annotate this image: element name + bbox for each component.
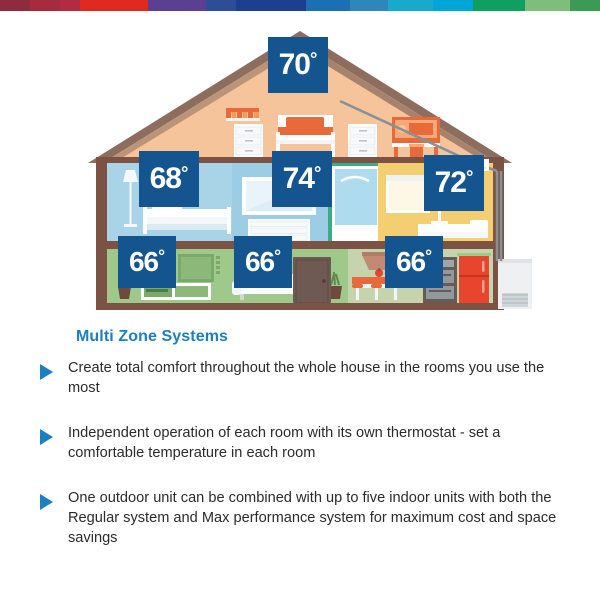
triangle-right-icon — [40, 429, 53, 445]
degree-symbol: ° — [314, 164, 321, 183]
bullet-item-1: Create total comfort throughout the whol… — [40, 358, 570, 398]
bullet-item-3: One outdoor unit can be combined with up… — [40, 488, 570, 548]
temperature-value: 66 — [396, 248, 425, 276]
attic-dresser-right-icon — [348, 124, 377, 157]
degree-symbol: ° — [181, 164, 188, 183]
color-swatch-3 — [80, 0, 148, 11]
color-swatch-0 — [0, 0, 30, 11]
triangle-right-icon — [40, 364, 53, 380]
degree-symbol: ° — [425, 248, 432, 265]
bathroom-shower-icon — [332, 166, 380, 241]
temperature-value: 70 — [279, 50, 310, 80]
bullet-text: Independent operation of each room with … — [68, 423, 570, 463]
color-swatch-9 — [388, 0, 433, 11]
color-swatch-6 — [236, 0, 306, 11]
temperature-badge-living-left: 66° — [118, 236, 176, 288]
door-brown-icon — [293, 257, 331, 303]
top-color-strip — [0, 0, 600, 11]
temperature-badge-kitchen: 66° — [385, 236, 443, 288]
degree-symbol: ° — [274, 248, 281, 265]
house-base — [96, 303, 504, 310]
degree-symbol: ° — [310, 50, 317, 69]
page-title: Multi Zone Systems — [76, 328, 228, 346]
triangle-right-icon — [40, 494, 53, 510]
color-swatch-5 — [206, 0, 236, 11]
color-swatch-11 — [473, 0, 525, 11]
temperature-badge-living-right: 66° — [234, 236, 292, 288]
temperature-value: 66 — [245, 248, 274, 276]
color-swatch-8 — [350, 0, 388, 11]
color-swatch-2 — [60, 0, 80, 11]
attic-dresser-left-icon — [234, 124, 263, 157]
temperature-value: 72 — [435, 168, 466, 198]
bullet-text: Create total comfort throughout the whol… — [68, 358, 570, 398]
color-swatch-7 — [306, 0, 350, 11]
color-swatch-10 — [433, 0, 473, 11]
temperature-value: 68 — [150, 164, 181, 194]
degree-symbol: ° — [466, 168, 473, 187]
degree-symbol: ° — [158, 248, 165, 265]
house-cutaway-illustration: 70° 68° 74° 72° 66° 66° 66° — [0, 11, 600, 316]
outdoor-unit-icon — [498, 259, 532, 309]
temperature-badge-bedroom-right: 72° — [424, 155, 484, 211]
temperature-badge-bedroom-left: 68° — [139, 151, 199, 207]
color-swatch-13 — [570, 0, 600, 11]
bullet-text: One outdoor unit can be combined with up… — [68, 488, 570, 548]
temperature-value: 74 — [283, 164, 314, 194]
temperature-value: 66 — [129, 248, 158, 276]
bullet-item-2: Independent operation of each room with … — [40, 423, 570, 463]
temperature-badge-bathroom: 74° — [272, 151, 332, 207]
kitchen-fridge-icon — [457, 253, 491, 303]
temperature-badge-attic: 70° — [268, 37, 328, 93]
color-swatch-12 — [525, 0, 570, 11]
content-panel: Multi Zone Systems Create total comfort … — [0, 318, 600, 600]
color-swatch-4 — [148, 0, 206, 11]
living-tv-icon — [178, 254, 220, 282]
color-swatch-1 — [30, 0, 60, 11]
